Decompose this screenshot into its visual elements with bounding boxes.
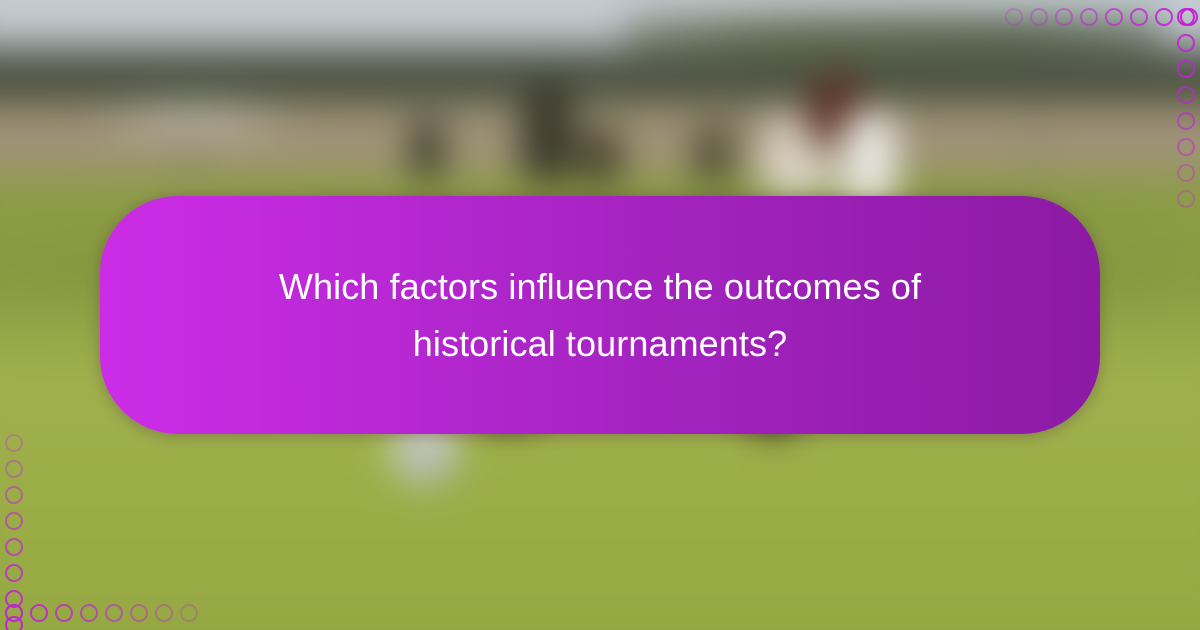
- decorative-dot: [5, 486, 23, 504]
- decorative-dot: [5, 616, 23, 630]
- decorative-dot: [1177, 86, 1195, 104]
- decorative-dot: [1177, 164, 1195, 182]
- decorative-dot: [55, 604, 73, 622]
- blurred-figure: [840, 110, 898, 206]
- decorative-dot: [1005, 8, 1023, 26]
- decorative-dot: [5, 590, 23, 608]
- decorative-dot: [80, 604, 98, 622]
- decorative-dot: [1130, 8, 1148, 26]
- blurred-figure: [695, 125, 731, 183]
- question-text: Which factors influence the outcomes of …: [230, 258, 970, 372]
- decorative-dot: [1177, 34, 1195, 52]
- blurred-figure: [580, 128, 622, 186]
- decorative-dot: [1055, 8, 1073, 26]
- goal-frame: [80, 88, 310, 150]
- decorative-dot: [1177, 8, 1195, 26]
- question-card: Which factors influence the outcomes of …: [100, 196, 1100, 434]
- decorative-dot: [155, 604, 173, 622]
- decorative-dot: [1030, 8, 1048, 26]
- decorative-dot: [1080, 8, 1098, 26]
- blurred-figure: [520, 80, 576, 182]
- decorative-dot: [1177, 190, 1195, 208]
- decorative-dot: [1105, 8, 1123, 26]
- blurred-figure: [410, 118, 444, 180]
- decorative-dot: [105, 604, 123, 622]
- decorative-dot: [1177, 112, 1195, 130]
- decorative-dot: [1177, 60, 1195, 78]
- decorative-dot: [180, 604, 198, 622]
- soccer-ball-shadow: [406, 438, 434, 462]
- decorative-dot: [5, 564, 23, 582]
- decorative-dot: [130, 604, 148, 622]
- decorative-dot: [5, 538, 23, 556]
- screenshot-canvas: Which factors influence the outcomes of …: [0, 0, 1200, 630]
- decorative-dot: [5, 460, 23, 478]
- decorative-dot: [1155, 8, 1173, 26]
- decorative-dot: [5, 512, 23, 530]
- decorative-dot: [5, 434, 23, 452]
- decorative-dot: [1177, 138, 1195, 156]
- decorative-dot: [30, 604, 48, 622]
